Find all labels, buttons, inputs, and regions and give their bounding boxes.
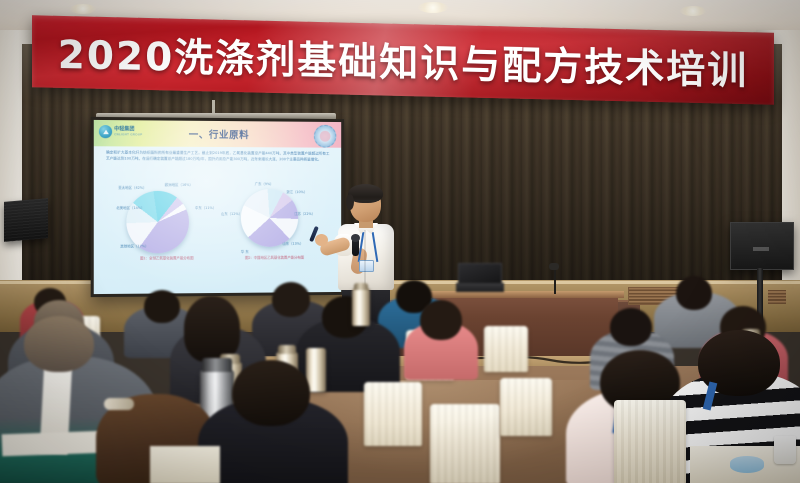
certification-seal-icon bbox=[314, 125, 336, 148]
logo-subtext: CNLIGHT GROUP bbox=[114, 132, 142, 136]
pie-chart-left: 亚太地区（42%） 欧洲地区（16%） 北美地区（14%） 中东（11%） 其他… bbox=[118, 183, 215, 262]
pie-right-label: 山东（12%） bbox=[221, 211, 242, 216]
pie-right-label: 浙江（10%） bbox=[286, 189, 307, 194]
thermos-cap bbox=[354, 283, 368, 290]
pie-chart-right: 广东（9%） 浙江（10%） 江苏（22%） 山东（12%） 山东（13%） 华… bbox=[225, 183, 324, 261]
pie-right-disc bbox=[241, 189, 298, 247]
logo-text-block: 中轻集团 CNLIGHT GROUP bbox=[114, 127, 142, 137]
attendee-head bbox=[610, 308, 652, 346]
chair-cover bbox=[430, 404, 500, 483]
seal-core bbox=[320, 131, 331, 142]
microphone-head bbox=[351, 234, 360, 242]
attendee-head bbox=[420, 300, 462, 340]
desk-microphone-stand bbox=[554, 268, 556, 294]
presenter-left-hand bbox=[315, 234, 328, 246]
pie-right-caption: 图2：中国地区乙氧基化装置产能分布图 bbox=[245, 255, 304, 260]
slide-body-text: 确定和扩大基本化纤为纺织面料的所有业最重要生产工艺。截止到2019年底，乙氧基化… bbox=[106, 150, 329, 162]
ceiling-light bbox=[418, 2, 448, 13]
chair-cover bbox=[614, 400, 686, 483]
pie-left-label: 中东（11%） bbox=[195, 205, 216, 210]
pie-left-label: 欧洲地区（16%） bbox=[165, 182, 193, 187]
attendee-head bbox=[184, 296, 240, 362]
pie-right-label: 华 东 bbox=[241, 249, 249, 254]
presentation-slide: 一、行业原料 中轻集团 CNLIGHT GROUP 确定和扩大基本化纤为纺织面料… bbox=[94, 120, 341, 294]
pie-right-label: 广东（9%） bbox=[255, 181, 274, 186]
hair-clip-icon bbox=[104, 398, 134, 410]
attendee-head bbox=[272, 282, 310, 317]
conference-photo: 2020洗涤剂基础知识与配方技术培训 一、行业原料 中轻集团 CNLIGHT G… bbox=[0, 0, 800, 483]
speaker-badge bbox=[753, 247, 769, 251]
wall-vent bbox=[768, 290, 786, 304]
floor-speaker-right bbox=[730, 222, 794, 270]
pie-left-caption: 图1：全球乙氧基化装置产能分布图 bbox=[140, 255, 193, 260]
eyeglasses-icon bbox=[351, 200, 379, 207]
shirt-placket bbox=[364, 230, 366, 288]
desk-top-edge bbox=[424, 291, 624, 298]
attendee-head bbox=[232, 360, 310, 426]
wall-speaker-left bbox=[4, 198, 48, 242]
desk-microphone-head bbox=[549, 263, 559, 270]
pie-left-label: 其他地区（17%） bbox=[120, 243, 148, 248]
attendee-head bbox=[676, 276, 712, 310]
pie-right-label: 山东（13%） bbox=[282, 241, 303, 246]
thermos-flask bbox=[352, 288, 370, 326]
company-logo: 中轻集团 CNLIGHT GROUP bbox=[99, 125, 142, 138]
face-mask bbox=[730, 456, 764, 473]
paper-cup bbox=[774, 436, 796, 464]
speaker-grill bbox=[4, 198, 48, 242]
thermos-cap bbox=[202, 358, 232, 372]
logo-mark-icon bbox=[99, 125, 112, 138]
ceiling-light bbox=[70, 4, 96, 14]
pie-right-label: 江苏（22%） bbox=[294, 211, 315, 216]
chair-cover bbox=[364, 382, 422, 446]
chair-cover bbox=[484, 326, 528, 372]
projection-screen: 一、行业原料 中轻集团 CNLIGHT GROUP 确定和扩大基本化纤为纺织面料… bbox=[91, 117, 344, 297]
pie-left-label: 北美地区（14%） bbox=[116, 205, 144, 210]
chair-cover bbox=[500, 378, 552, 436]
laptop-base bbox=[456, 283, 504, 292]
attendee-head bbox=[144, 290, 180, 323]
ceiling-light bbox=[680, 6, 706, 16]
attendee-head bbox=[24, 316, 94, 372]
table-surface bbox=[150, 446, 220, 483]
thermos-cap bbox=[278, 345, 296, 354]
pie-left-label: 亚太地区（42%） bbox=[118, 185, 146, 190]
name-badge bbox=[359, 260, 374, 272]
